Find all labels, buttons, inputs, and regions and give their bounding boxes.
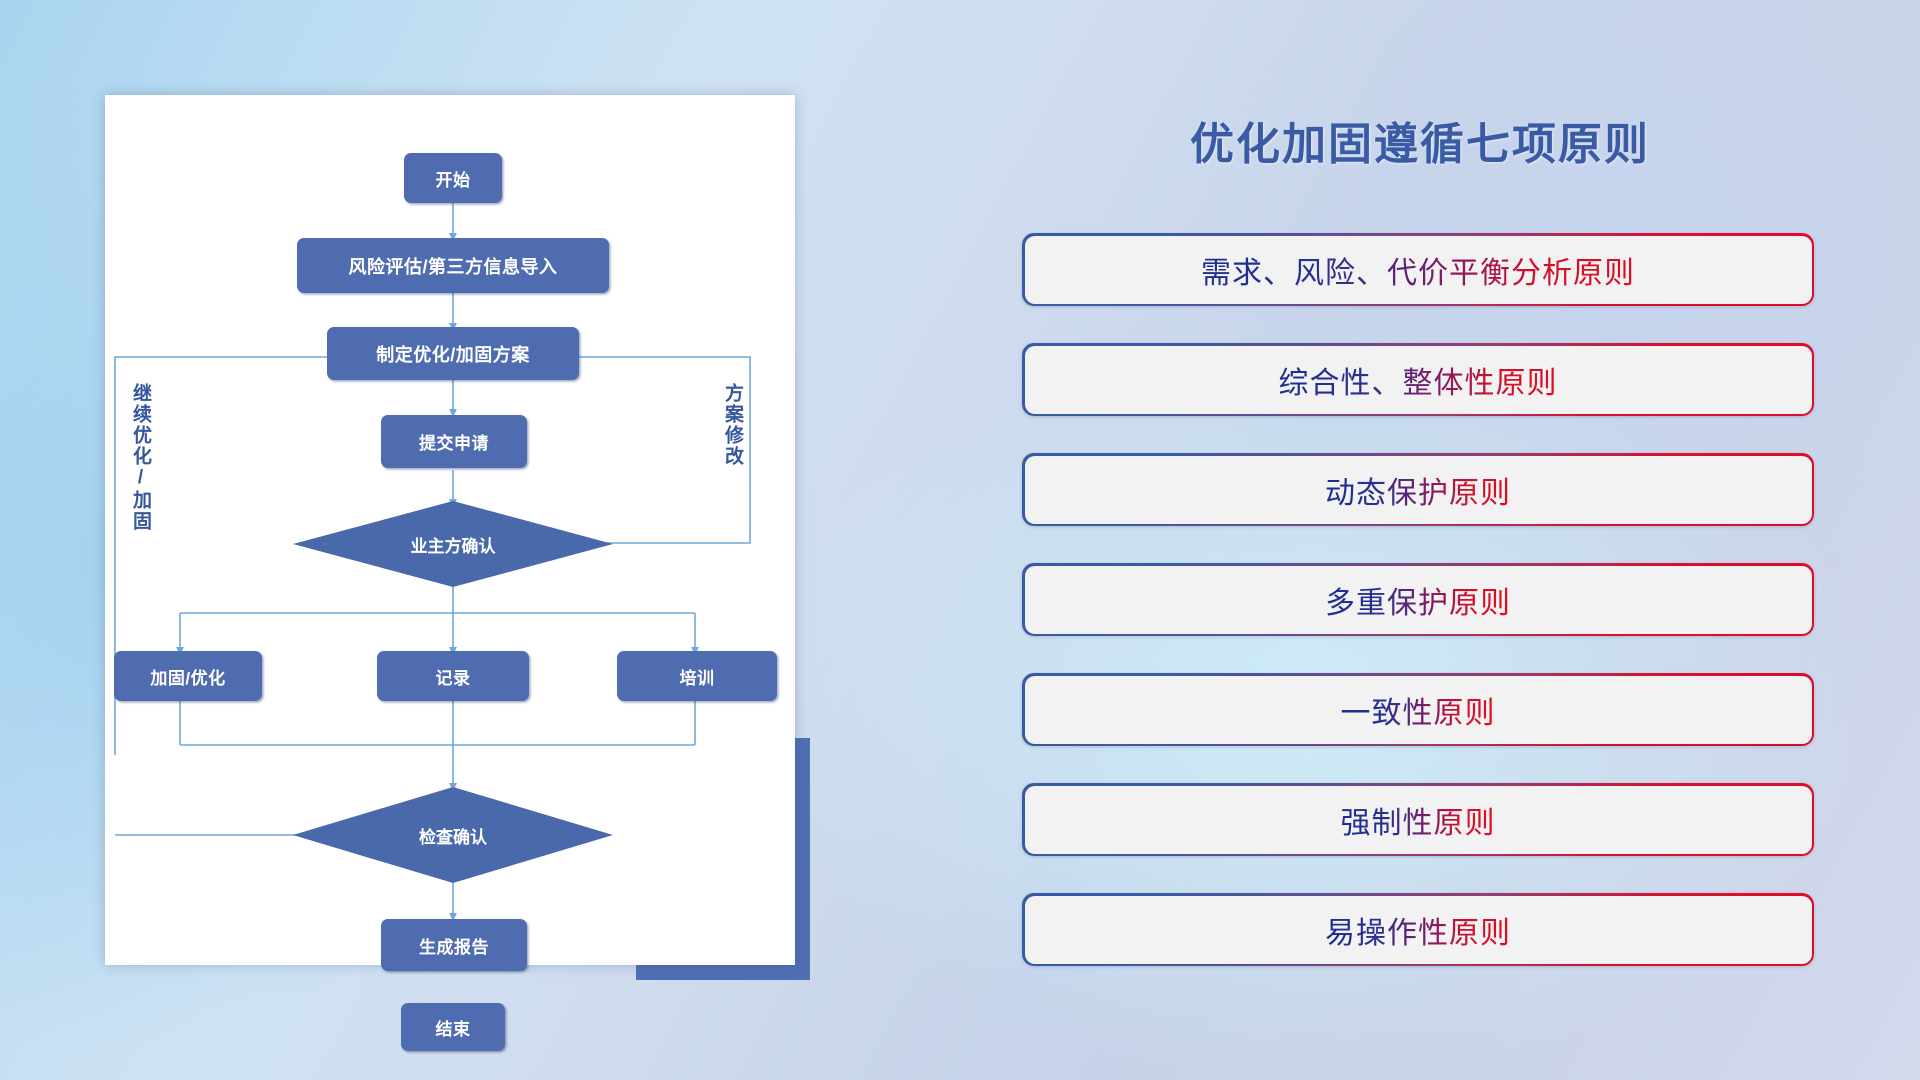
principle-item-inner: 易操作性原则	[1025, 896, 1812, 964]
edge-label-plan-revision: 方案修改	[723, 383, 742, 467]
principle-item[interactable]: 易操作性原则	[1022, 893, 1814, 966]
flow-node-reinforce[interactable]: 加固/优化	[114, 651, 262, 701]
flow-node-report-label: 生成报告	[419, 933, 489, 958]
flow-node-check-confirm[interactable]: 检查确认	[293, 787, 613, 883]
page-title: 优化加固遵循七项原则	[1020, 108, 1820, 172]
principle-item-inner: 需求、风险、代价平衡分析原则	[1025, 236, 1812, 304]
flow-node-reinforce-label: 加固/优化	[150, 664, 225, 689]
diamond-shape-owner	[293, 501, 613, 587]
flow-node-record[interactable]: 记录	[377, 651, 529, 701]
flow-node-end-label: 结束	[436, 1015, 471, 1040]
flow-node-start-label: 开始	[436, 166, 471, 191]
principle-list: 需求、风险、代价平衡分析原则 综合性、整体性原则 动态保护原则 多重保护原则 一…	[1022, 233, 1814, 1003]
principle-item-inner: 一致性原则	[1025, 676, 1812, 744]
flow-node-submit[interactable]: 提交申请	[381, 415, 527, 468]
principle-item[interactable]: 多重保护原则	[1022, 563, 1814, 636]
flow-node-owner-confirm[interactable]: 业主方确认	[293, 501, 613, 587]
principle-item-label: 动态保护原则	[1325, 468, 1511, 512]
principle-item-label: 一致性原则	[1341, 688, 1496, 732]
flow-node-plan-label: 制定优化/加固方案	[376, 341, 530, 367]
flow-node-training[interactable]: 培训	[617, 651, 777, 701]
flow-node-report[interactable]: 生成报告	[381, 919, 527, 971]
flow-node-plan[interactable]: 制定优化/加固方案	[327, 327, 579, 380]
principle-item[interactable]: 强制性原则	[1022, 783, 1814, 856]
flow-node-risk-assessment-label: 风险评估/第三方信息导入	[349, 253, 558, 279]
principle-item[interactable]: 一致性原则	[1022, 673, 1814, 746]
flow-node-risk-assessment[interactable]: 风险评估/第三方信息导入	[297, 238, 609, 293]
principle-item[interactable]: 动态保护原则	[1022, 453, 1814, 526]
principle-item-label: 易操作性原则	[1325, 908, 1511, 952]
principle-item-inner: 多重保护原则	[1025, 566, 1812, 634]
principle-item-label: 综合性、整体性原则	[1279, 358, 1558, 402]
principle-item-inner: 强制性原则	[1025, 786, 1812, 854]
flow-node-end[interactable]: 结束	[401, 1003, 505, 1051]
slide-canvas: 开始 风险评估/第三方信息导入 制定优化/加固方案 提交申请 业主方确认 加固/…	[0, 0, 1920, 1080]
diamond-shape-check	[293, 787, 613, 883]
principle-item-label: 多重保护原则	[1325, 578, 1511, 622]
flow-node-training-label: 培训	[680, 664, 715, 689]
principle-item[interactable]: 综合性、整体性原则	[1022, 343, 1814, 416]
flow-node-record-label: 记录	[436, 664, 471, 689]
principle-item-label: 需求、风险、代价平衡分析原则	[1201, 248, 1635, 292]
flowchart-card: 开始 风险评估/第三方信息导入 制定优化/加固方案 提交申请 业主方确认 加固/…	[105, 95, 795, 965]
flow-node-start[interactable]: 开始	[404, 153, 502, 203]
principle-item-inner: 动态保护原则	[1025, 456, 1812, 524]
principle-item[interactable]: 需求、风险、代价平衡分析原则	[1022, 233, 1814, 306]
principle-item-inner: 综合性、整体性原则	[1025, 346, 1812, 414]
flow-node-submit-label: 提交申请	[419, 429, 489, 454]
principle-item-label: 强制性原则	[1341, 798, 1496, 842]
edge-label-continue-optimize: 继续优化/加固	[131, 383, 150, 532]
